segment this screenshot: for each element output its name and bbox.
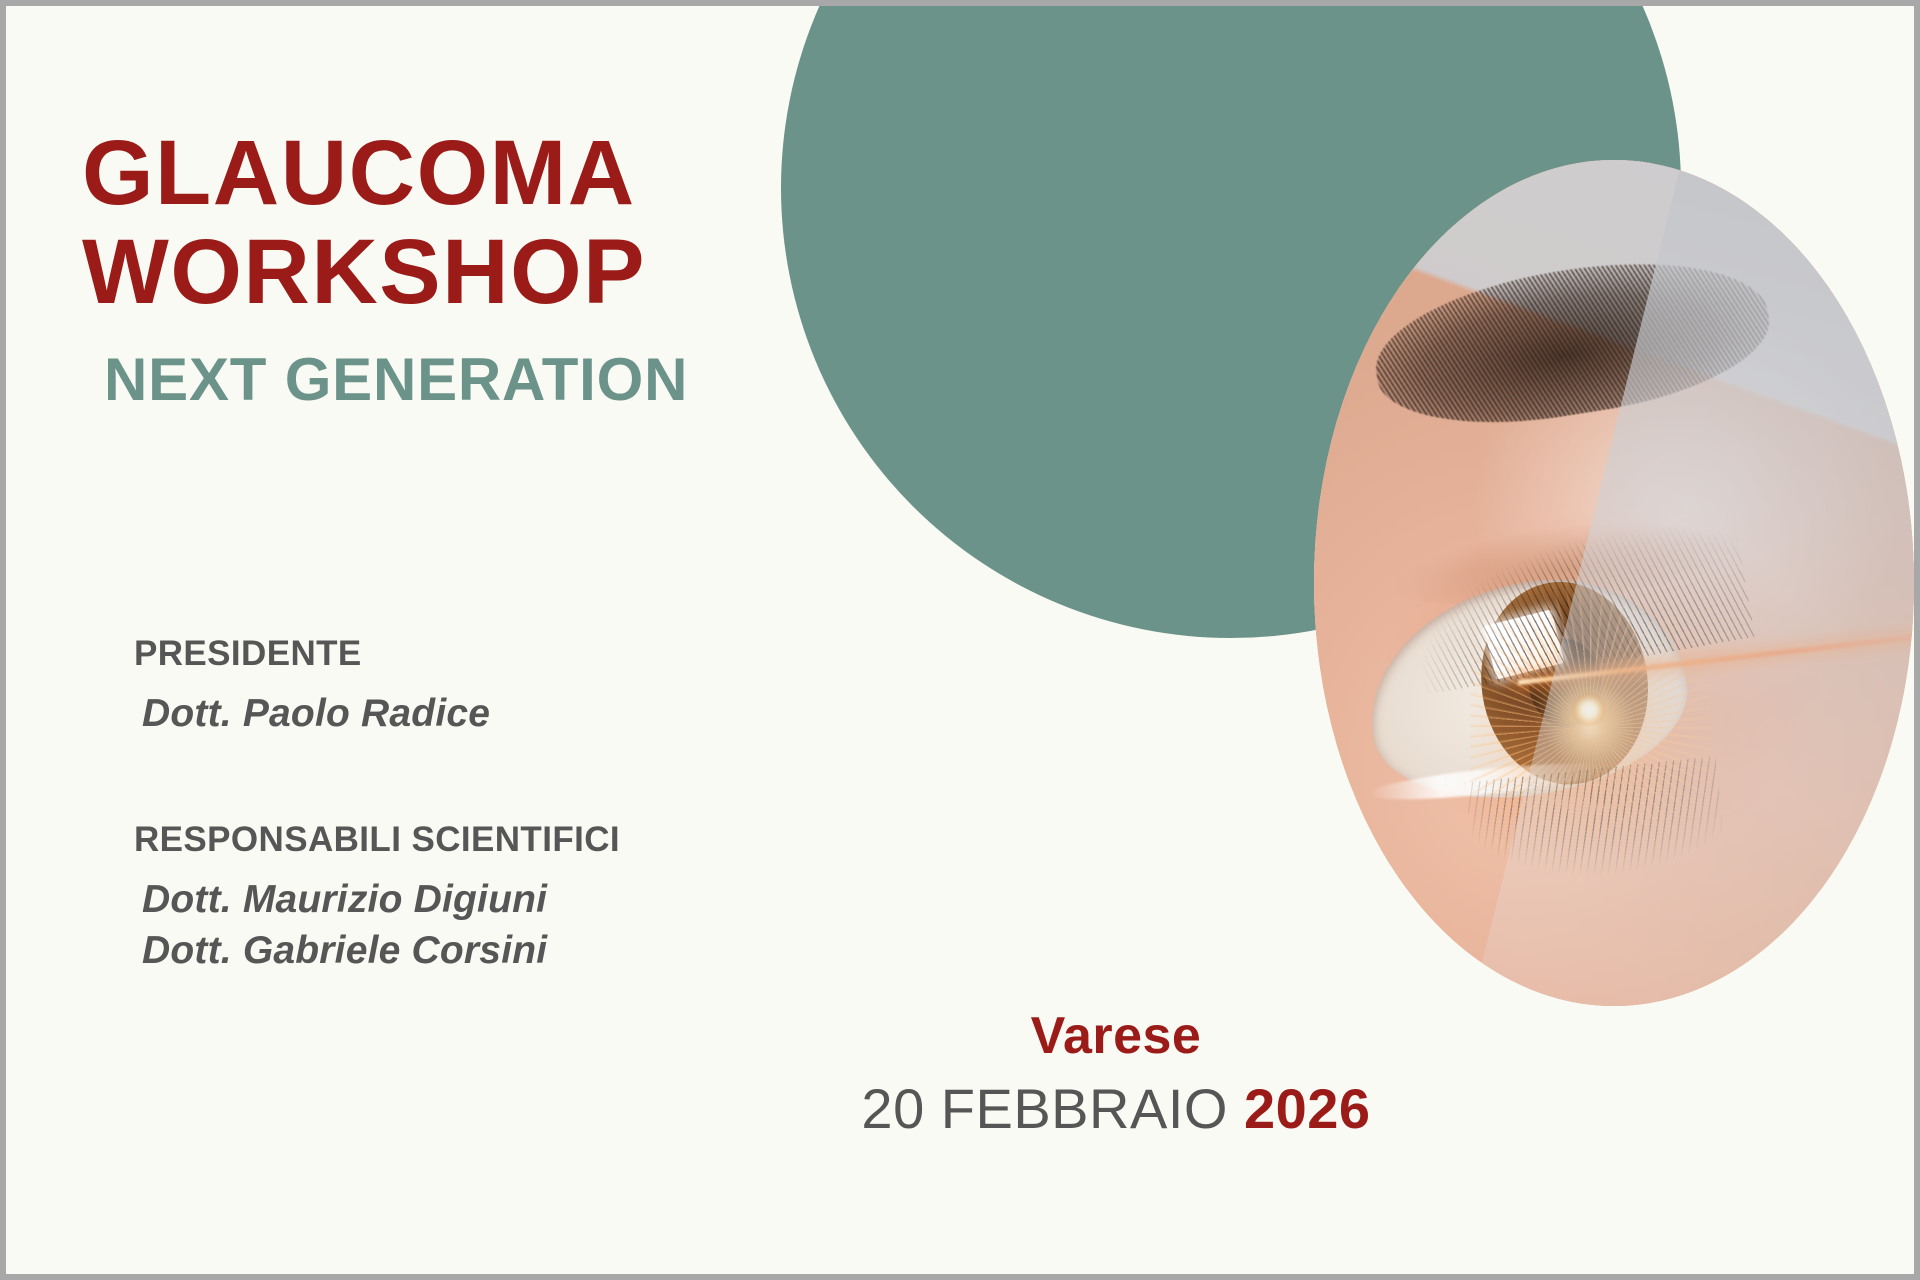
title-line-2: WORKSHOP xyxy=(82,223,902,322)
footer-block: Varese 20 FEBBRAIO 2026 xyxy=(766,1006,1466,1141)
event-city: Varese xyxy=(766,1006,1466,1066)
title-subtitle: NEXT GENERATION xyxy=(104,345,902,414)
title-block: GLAUCOMA WORKSHOP NEXT GENERATION xyxy=(82,124,902,414)
eye-laser-photo-circle xyxy=(1314,160,1914,1006)
eye-photo-image xyxy=(1314,160,1914,1006)
event-date-day-month: 20 FEBBRAIO xyxy=(861,1077,1244,1140)
president-role-label: PRESIDENTE xyxy=(134,634,994,674)
event-date: 20 FEBBRAIO 2026 xyxy=(766,1076,1466,1141)
credits-block: PRESIDENTE Dott. Paolo Radice RESPONSABI… xyxy=(134,634,994,975)
poster-inner-surface: GLAUCOMA WORKSHOP NEXT GENERATION PRESID… xyxy=(6,6,1914,1274)
title-line-1: GLAUCOMA xyxy=(82,124,902,223)
scientific-lead-name-1: Dott. Maurizio Digiuni xyxy=(142,876,994,924)
eyebrow-graphic xyxy=(1365,240,1779,444)
laser-impact-flare-graphic xyxy=(1572,693,1606,727)
scientific-lead-name-2: Dott. Gabriele Corsini xyxy=(142,927,994,975)
event-date-year: 2026 xyxy=(1244,1077,1371,1140)
scientific-leads-role-label: RESPONSABILI SCIENTIFICI xyxy=(134,820,994,860)
president-name: Dott. Paolo Radice xyxy=(142,690,994,738)
poster-canvas: GLAUCOMA WORKSHOP NEXT GENERATION PRESID… xyxy=(0,0,1920,1280)
